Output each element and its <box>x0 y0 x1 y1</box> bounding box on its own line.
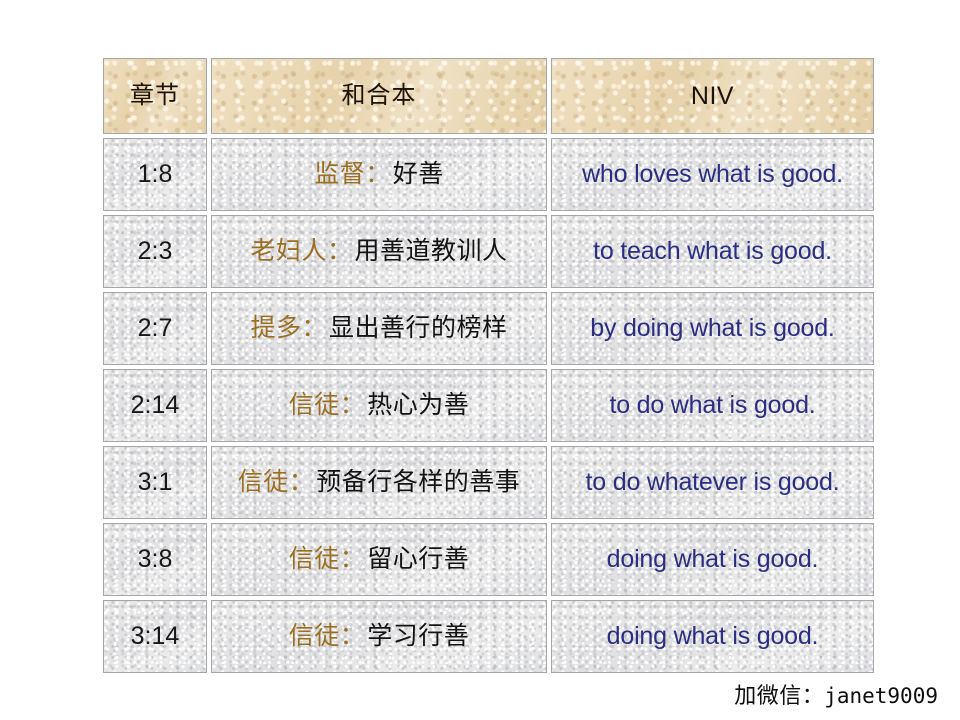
cell-cuv: 提多：显出善行的榜样 <box>211 292 547 365</box>
cuv-phrase: 用善道教训人 <box>355 237 508 265</box>
column-header-reference-label: 章节 <box>130 82 180 109</box>
cuv-role: 监督 <box>314 160 365 188</box>
cell-reference: 1:8 <box>103 138 207 211</box>
cell-reference: 2:7 <box>103 292 207 365</box>
scripture-comparison-table: 章节 和合本 NIV 1:8监督：好善who loves what is goo… <box>99 54 878 677</box>
cuv-role: 信徒 <box>289 545 340 573</box>
column-header-niv-label: NIV <box>691 82 734 110</box>
niv-text: doing what is good. <box>607 545 819 573</box>
cuv-text: 信徒：预备行各样的善事 <box>238 468 521 496</box>
cuv-phrase: 学习行善 <box>367 622 469 650</box>
footer-watermark: 加微信：janet9009 <box>734 678 938 710</box>
cuv-separator: ： <box>340 622 368 650</box>
cuv-role: 信徒 <box>289 391 340 419</box>
cuv-separator: ： <box>289 468 317 496</box>
cuv-separator: ： <box>301 314 329 342</box>
reference-text: 3:1 <box>138 468 173 496</box>
header-row: 章节 和合本 NIV <box>103 58 874 134</box>
cell-niv: to teach what is good. <box>551 215 874 288</box>
cuv-role: 信徒 <box>238 468 289 496</box>
table-row: 1:8监督：好善who loves what is good. <box>103 138 874 211</box>
cuv-text: 信徒：学习行善 <box>289 622 470 650</box>
table-header: 章节 和合本 NIV <box>103 58 874 134</box>
table-row: 3:1信徒：预备行各样的善事to do whatever is good. <box>103 446 874 519</box>
cuv-phrase: 好善 <box>393 160 444 188</box>
cell-niv: to do whatever is good. <box>551 446 874 519</box>
niv-text: to do what is good. <box>609 391 815 419</box>
cuv-text: 监督：好善 <box>314 160 444 188</box>
reference-text: 1:8 <box>138 160 173 188</box>
cuv-role: 老妇人 <box>250 237 327 265</box>
watermark-label: 加微信： <box>734 683 824 708</box>
column-header-cuv: 和合本 <box>211 58 547 134</box>
cell-reference: 3:14 <box>103 600 207 673</box>
column-header-cuv-label: 和合本 <box>342 82 417 109</box>
cell-cuv: 监督：好善 <box>211 138 547 211</box>
niv-text: doing what is good. <box>607 622 819 650</box>
cell-cuv: 信徒：热心为善 <box>211 369 547 442</box>
cuv-separator: ： <box>340 545 368 573</box>
cuv-role: 提多 <box>250 314 301 342</box>
cuv-text: 信徒：热心为善 <box>289 391 470 419</box>
cuv-phrase: 热心为善 <box>367 391 469 419</box>
table-row: 2:14信徒：热心为善to do what is good. <box>103 369 874 442</box>
cell-reference: 3:1 <box>103 446 207 519</box>
cuv-text: 信徒：留心行善 <box>289 545 470 573</box>
cuv-role: 信徒 <box>289 622 340 650</box>
cuv-separator: ： <box>365 160 393 188</box>
table-body: 1:8监督：好善who loves what is good.2:3老妇人：用善… <box>103 138 874 673</box>
cuv-phrase: 留心行善 <box>367 545 469 573</box>
table-row: 2:3老妇人：用善道教训人to teach what is good. <box>103 215 874 288</box>
cell-niv: doing what is good. <box>551 600 874 673</box>
reference-text: 2:14 <box>131 391 180 419</box>
cell-reference: 2:3 <box>103 215 207 288</box>
reference-text: 3:8 <box>138 545 173 573</box>
cuv-text: 提多：显出善行的榜样 <box>250 314 507 342</box>
cell-niv: by doing what is good. <box>551 292 874 365</box>
cell-niv: to do what is good. <box>551 369 874 442</box>
cell-cuv: 信徒：学习行善 <box>211 600 547 673</box>
cell-niv: doing what is good. <box>551 523 874 596</box>
reference-text: 2:7 <box>138 314 173 342</box>
table-row: 2:7提多：显出善行的榜样by doing what is good. <box>103 292 874 365</box>
watermark-id: janet9009 <box>824 684 938 708</box>
cell-cuv: 信徒：留心行善 <box>211 523 547 596</box>
niv-text: to do whatever is good. <box>586 468 840 496</box>
table-row: 3:14信徒：学习行善doing what is good. <box>103 600 874 673</box>
cuv-phrase: 显出善行的榜样 <box>329 314 508 342</box>
reference-text: 2:3 <box>138 237 173 265</box>
cuv-separator: ： <box>340 391 368 419</box>
cuv-phrase: 预备行各样的善事 <box>316 468 520 496</box>
niv-text: who loves what is good. <box>582 160 843 188</box>
cuv-separator: ： <box>327 237 355 265</box>
cell-reference: 3:8 <box>103 523 207 596</box>
column-header-reference: 章节 <box>103 58 207 134</box>
reference-text: 3:14 <box>131 622 180 650</box>
cell-cuv: 信徒：预备行各样的善事 <box>211 446 547 519</box>
cell-cuv: 老妇人：用善道教训人 <box>211 215 547 288</box>
cuv-text: 老妇人：用善道教训人 <box>250 237 507 265</box>
table-row: 3:8信徒：留心行善doing what is good. <box>103 523 874 596</box>
cell-reference: 2:14 <box>103 369 207 442</box>
niv-text: to teach what is good. <box>593 237 832 265</box>
niv-text: by doing what is good. <box>590 314 834 342</box>
slide-canvas: 章节 和合本 NIV 1:8监督：好善who loves what is goo… <box>0 0 960 720</box>
cell-niv: who loves what is good. <box>551 138 874 211</box>
column-header-niv: NIV <box>551 58 874 134</box>
